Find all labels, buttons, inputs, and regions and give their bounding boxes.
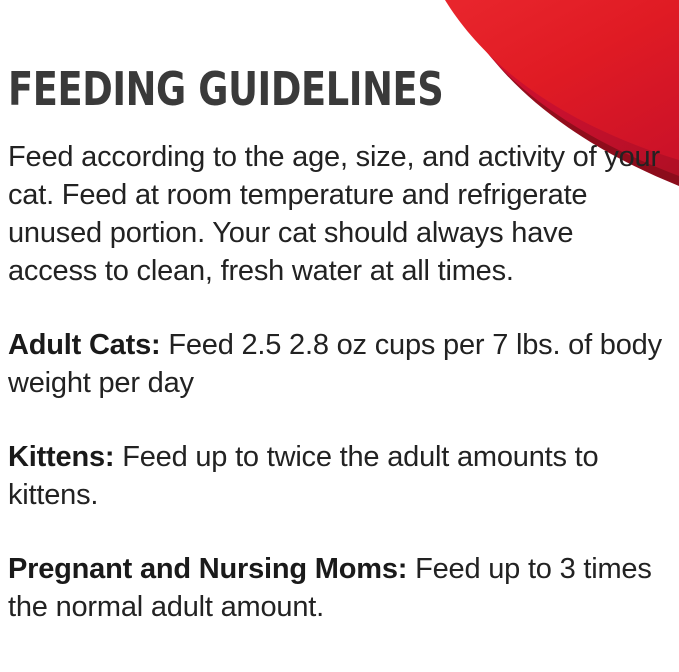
feeding-guidelines-panel: FEEDING GUIDELINES Feed according to the… [0,0,679,672]
intro-paragraph: Feed according to the age, size, and act… [8,112,668,290]
section-pregnant-nursing-moms: Pregnant and Nursing Moms: Feed up to 3 … [8,514,668,626]
page-title: FEEDING GUIDELINES [8,0,536,112]
section-label-kittens: Kittens: [8,441,114,473]
guidelines-content: FEEDING GUIDELINES Feed according to the… [8,0,668,626]
section-kittens: Kittens: Feed up to twice the adult amou… [8,402,668,514]
section-label-pregnant-nursing-moms: Pregnant and Nursing Moms: [8,553,407,585]
section-label-adult-cats: Adult Cats: [8,329,160,361]
section-adult-cats: Adult Cats: Feed 2.5 2.8 oz cups per 7 l… [8,290,668,402]
